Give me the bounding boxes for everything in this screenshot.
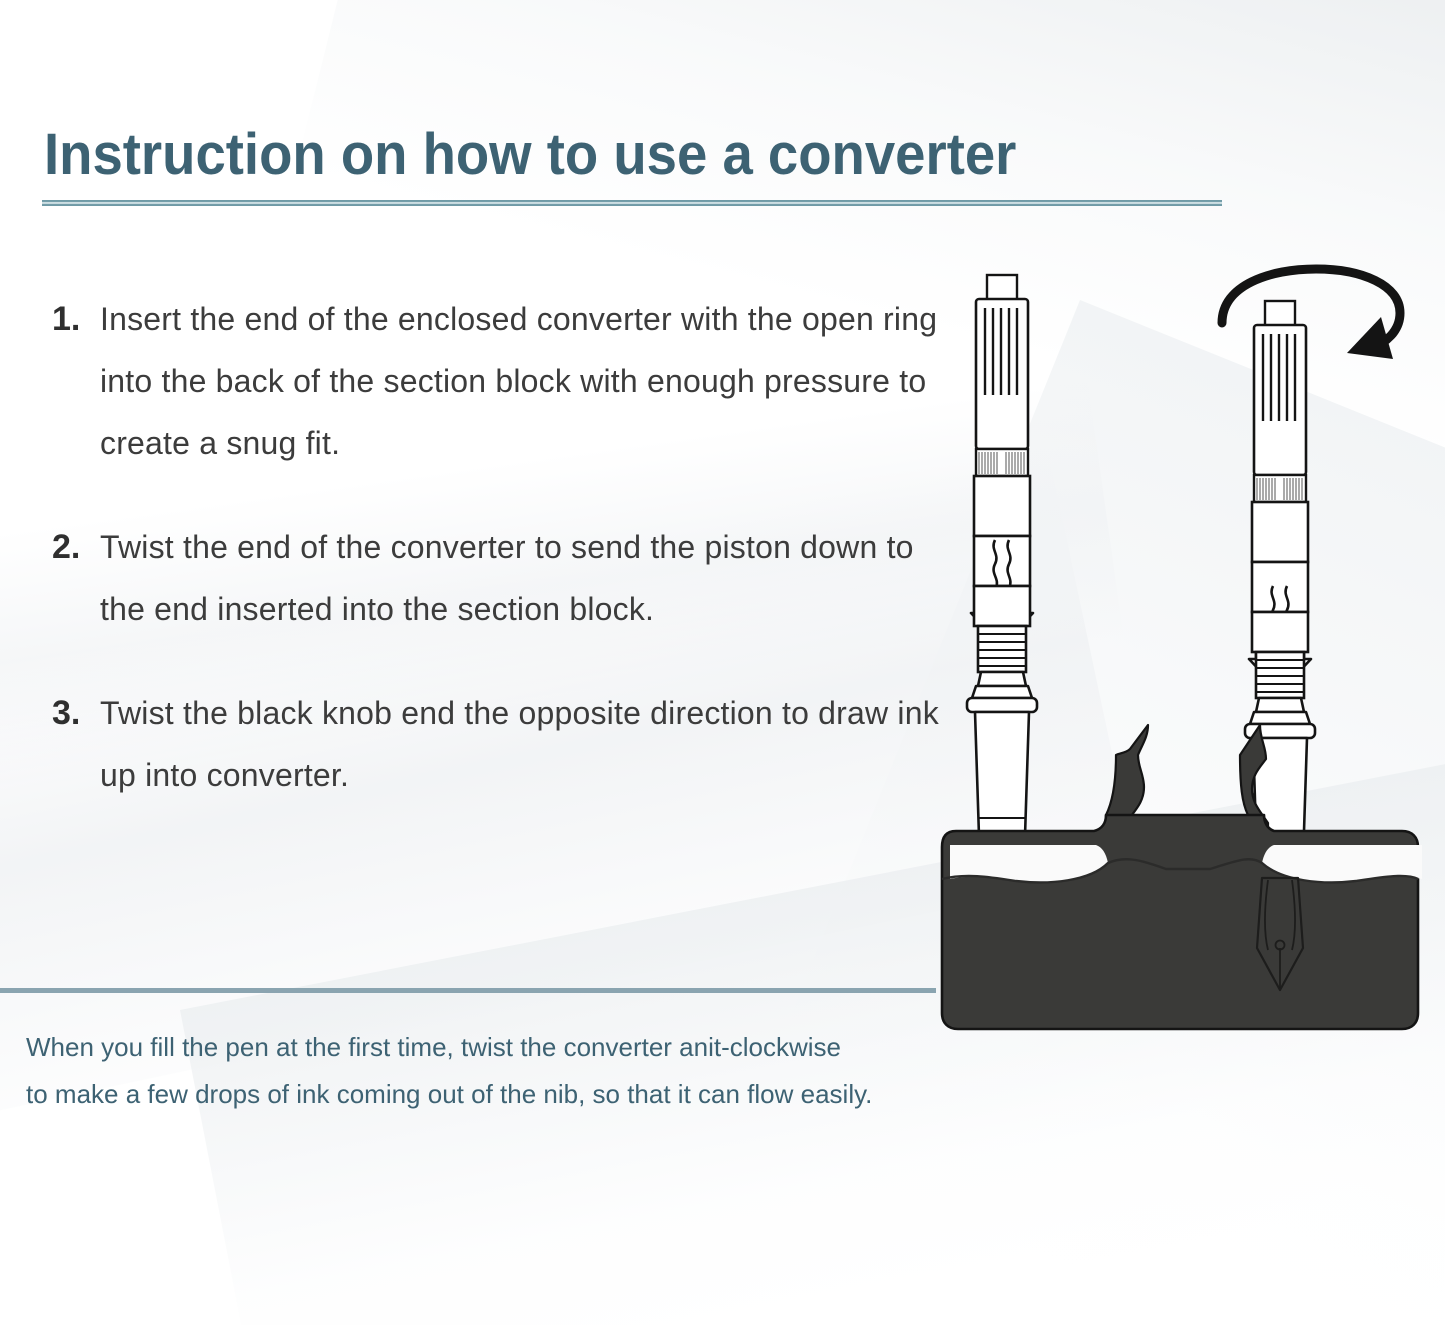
- step-number: 2.: [52, 516, 80, 578]
- twist-rotation-arrow-icon: [1222, 269, 1400, 359]
- list-item: 3. Twist the black knob end the opposite…: [52, 682, 952, 806]
- illustration: [930, 255, 1440, 1045]
- title-underline: [42, 200, 1222, 206]
- footer-note-line-2: to make a few drops of ink coming out of…: [26, 1071, 1006, 1118]
- instruction-steps: 1. Insert the end of the enclosed conver…: [52, 288, 952, 848]
- page-title: Instruction on how to use a converter: [44, 124, 1016, 186]
- instruction-card: Instruction on how to use a converter 1.…: [0, 0, 1445, 1325]
- step-number: 3.: [52, 682, 80, 744]
- step-text: Insert the end of the enclosed converter…: [100, 288, 952, 474]
- footer-note: When you fill the pen at the first time,…: [26, 1024, 1006, 1118]
- step-text: Twist the black knob end the opposite di…: [100, 682, 952, 806]
- step-number: 1.: [52, 288, 80, 350]
- step-text: Twist the end of the converter to send t…: [100, 516, 952, 640]
- list-item: 2. Twist the end of the converter to sen…: [52, 516, 952, 640]
- footer-note-line-1: When you fill the pen at the first time,…: [26, 1024, 1006, 1071]
- footer-divider: [0, 988, 936, 993]
- list-item: 1. Insert the end of the enclosed conver…: [52, 288, 952, 474]
- pen-diagram-right: [1245, 301, 1315, 878]
